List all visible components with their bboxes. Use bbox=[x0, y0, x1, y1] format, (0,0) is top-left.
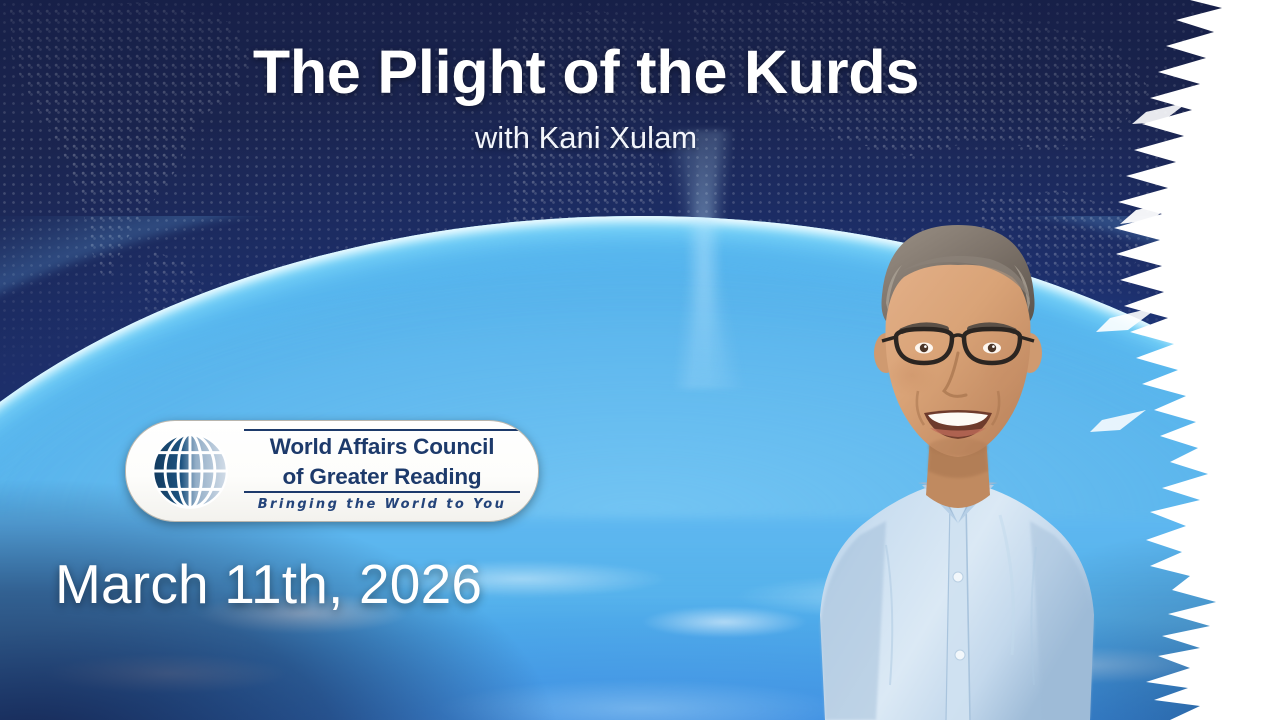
logo-name-line1: World Affairs Council bbox=[242, 431, 522, 461]
logo-text-block: World Affairs Council of Greater Reading… bbox=[236, 429, 538, 513]
page-title: The Plight of the Kurds bbox=[0, 42, 1280, 103]
event-date: March 11th, 2026 bbox=[55, 552, 482, 616]
event-poster: The Plight of the Kurds with Kani Xulam … bbox=[0, 0, 1280, 720]
speaker-shirt bbox=[820, 482, 1094, 720]
speaker-portrait bbox=[790, 185, 1120, 720]
logo-tagline: Bringing the World to You bbox=[242, 493, 522, 513]
globe-icon bbox=[144, 425, 236, 517]
speaker-head bbox=[874, 225, 1042, 457]
logo-name-line2: of Greater Reading bbox=[242, 461, 522, 491]
speaker-subtitle: with Kani Xulam bbox=[0, 122, 1280, 153]
organization-logo: World Affairs Council of Greater Reading… bbox=[125, 420, 539, 522]
